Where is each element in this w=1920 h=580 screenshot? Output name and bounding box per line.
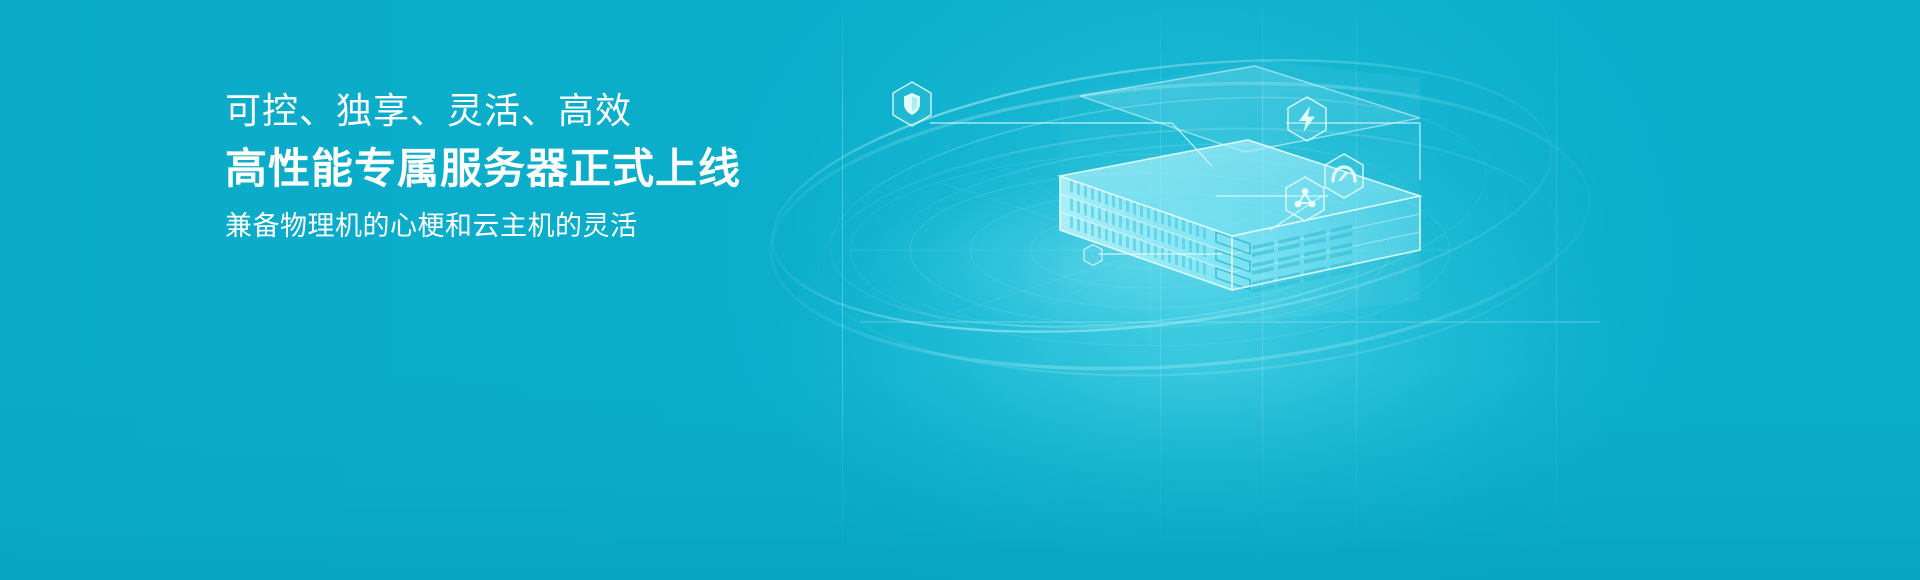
- hexagon-node-icon: [1162, 112, 1184, 136]
- kicker-text: 可控、独享、灵活、高效: [225, 88, 865, 134]
- subline-text: 兼备物理机的心梗和云主机的灵活: [225, 209, 865, 245]
- shield-badge[interactable]: [890, 80, 930, 124]
- headline-text: 高性能专属服务器正式上线: [225, 142, 865, 197]
- orbit-rings: [0, 0, 1920, 580]
- performance-badge[interactable]: [1285, 95, 1325, 139]
- promo-banner: 可控、独享、灵活、高效 高性能专属服务器正式上线 兼备物理机的心梗和云主机的灵活: [0, 0, 1920, 580]
- network-badge[interactable]: [1283, 175, 1323, 219]
- speed-badge[interactable]: [1322, 152, 1362, 196]
- speedometer-icon: [1322, 152, 1366, 200]
- network-node-icon: [1283, 175, 1327, 223]
- copy-block: 可控、独享、灵活、高效 高性能专属服务器正式上线 兼备物理机的心梗和云主机的灵活: [225, 88, 865, 244]
- lightning-bolt-icon: [1285, 95, 1329, 143]
- shield-icon: [890, 80, 934, 128]
- hex-node-left[interactable]: [1082, 243, 1104, 267]
- hexagon-node-icon: [1082, 243, 1104, 267]
